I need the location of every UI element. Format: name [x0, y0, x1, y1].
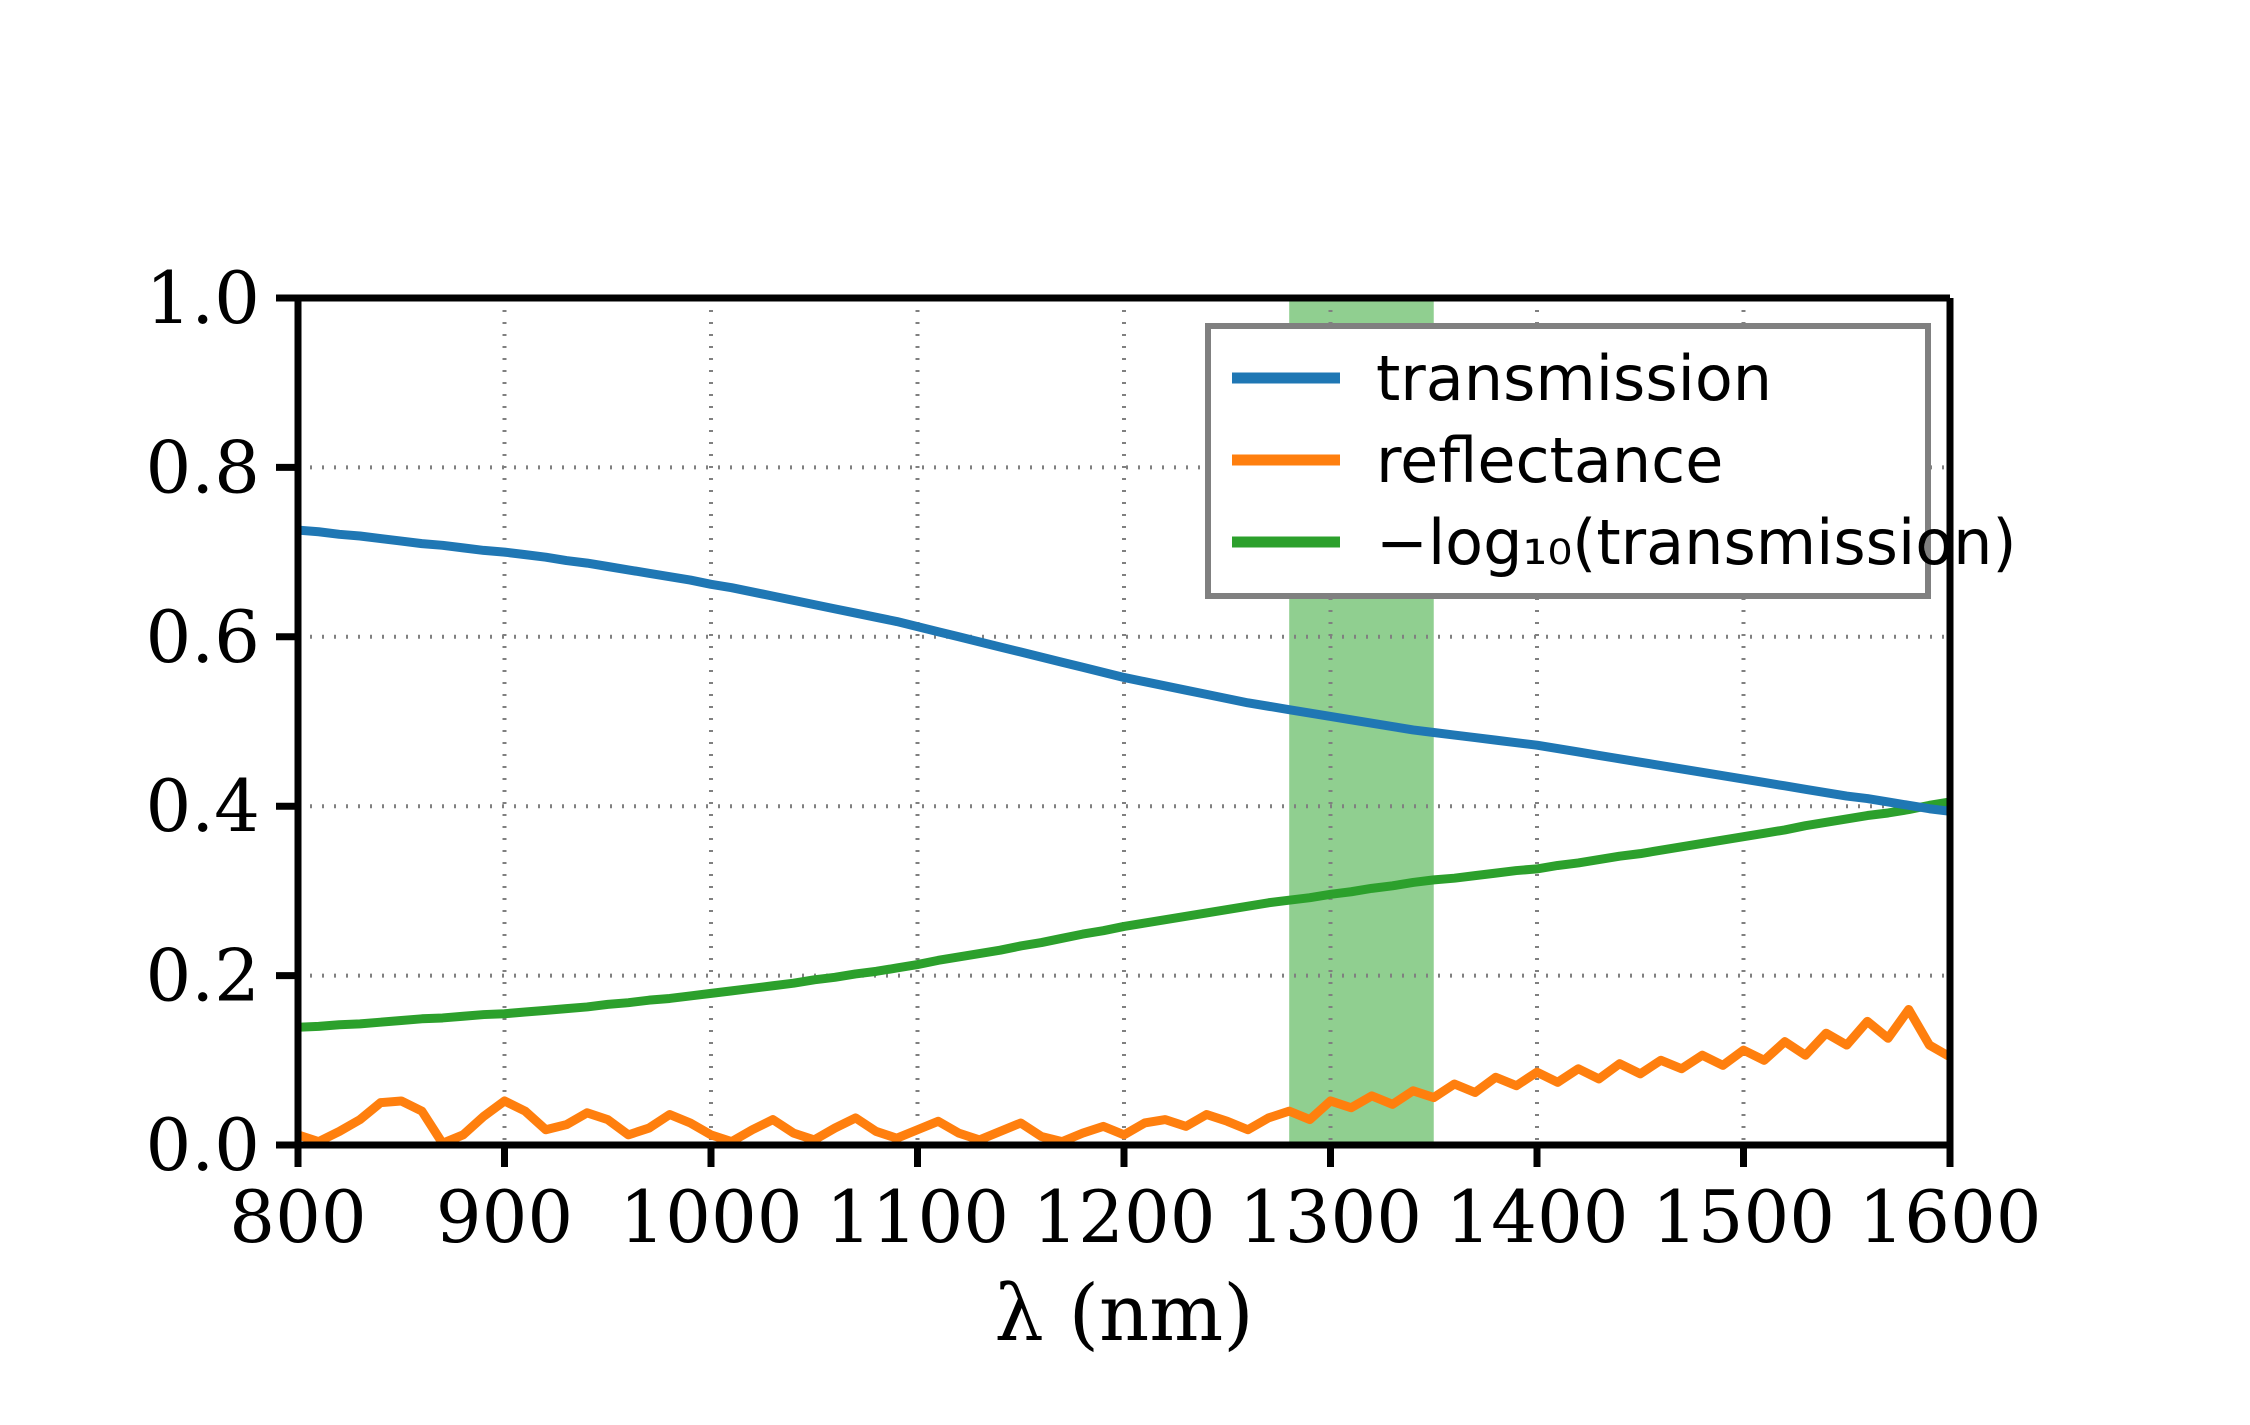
legend-label-1: reflectance — [1376, 424, 1723, 497]
y-tick-label: 0.4 — [145, 764, 260, 848]
chart-plot: 80090010001100120013001400150016000.00.2… — [0, 0, 2250, 1425]
y-tick-label: 1.0 — [145, 256, 260, 340]
x-tick-label: 800 — [229, 1175, 366, 1259]
x-tick-label: 1400 — [1445, 1175, 1628, 1259]
x-tick-label: 1600 — [1858, 1175, 2041, 1259]
x-tick-label: 1500 — [1652, 1175, 1835, 1259]
x-axis-title: λ (nm) — [994, 1269, 1253, 1359]
legend-label-2: −log₁₀(transmission) — [1376, 506, 2017, 579]
y-tick-label: 0.0 — [145, 1103, 260, 1187]
legend: transmissionreflectance−log₁₀(transmissi… — [1208, 326, 2017, 596]
y-tick-label: 0.6 — [145, 595, 260, 679]
x-tick-label: 1300 — [1239, 1175, 1422, 1259]
x-tick-label: 1100 — [826, 1175, 1009, 1259]
y-tick-label: 0.8 — [145, 425, 260, 509]
figure-canvas: 80090010001100120013001400150016000.00.2… — [0, 0, 2250, 1425]
x-tick-label: 1000 — [619, 1175, 802, 1259]
x-tick-label: 900 — [436, 1175, 573, 1259]
x-tick-label: 1200 — [1032, 1175, 1215, 1259]
y-tick-label: 0.2 — [145, 934, 260, 1018]
legend-label-0: transmission — [1376, 342, 1772, 415]
